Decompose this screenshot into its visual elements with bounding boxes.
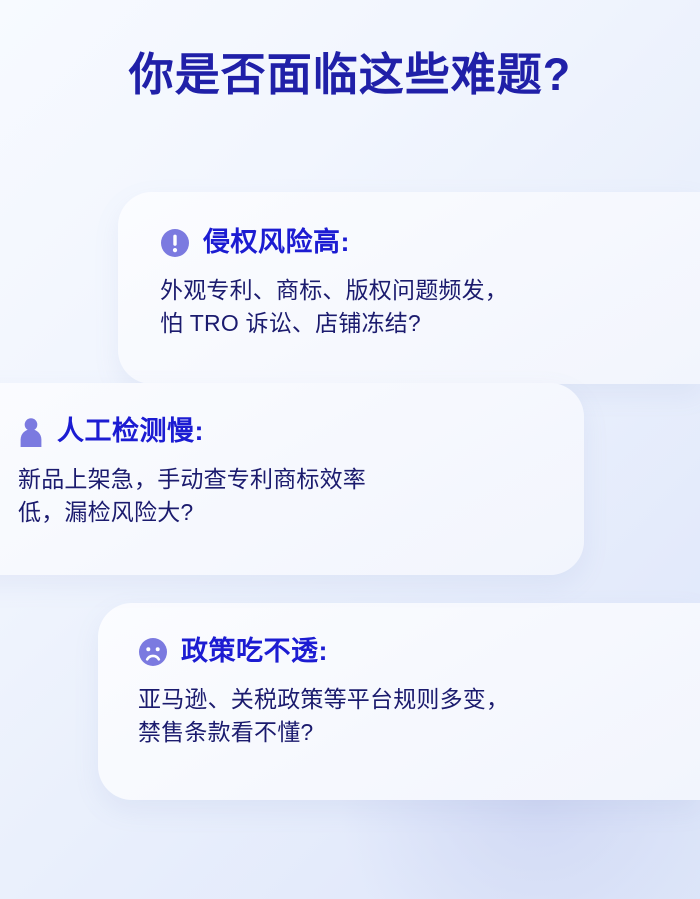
promo-poster: 你是否面临这些难题? 侵权风险高: 外观专利、商标、版权问题频发， 怕 TRO … xyxy=(0,0,700,899)
card-content: 侵权风险高: 外观专利、商标、版权问题频发， 怕 TRO 诉讼、店铺冻结? xyxy=(118,192,700,339)
sad-face-icon xyxy=(138,637,168,667)
card-title: 人工检测慢: xyxy=(57,417,204,447)
card-header: 政策吃不透: xyxy=(138,637,660,667)
card-header: 侵权风险高: xyxy=(160,228,660,258)
problem-card-infringement-risk: 侵权风险高: 外观专利、商标、版权问题频发， 怕 TRO 诉讼、店铺冻结? xyxy=(118,192,700,384)
card-title: 侵权风险高: xyxy=(203,228,350,258)
problem-card-manual-detection-slow: 人工检测慢: 新品上架急，手动查专利商标效率 低，漏检风险大? xyxy=(0,383,584,575)
card-title: 政策吃不透: xyxy=(181,637,328,667)
card-header: 人工检测慢: xyxy=(18,417,544,447)
card-body-text: 新品上架急，手动查专利商标效率 低，漏检风险大? xyxy=(18,463,544,528)
page-title: 你是否面临这些难题? xyxy=(0,48,700,102)
card-content: 人工检测慢: 新品上架急，手动查专利商标效率 低，漏检风险大? xyxy=(0,383,584,528)
problem-card-policy-unclear: 政策吃不透: 亚马逊、关税政策等平台规则多变， 禁售条款看不懂? xyxy=(98,603,700,800)
card-body-text: 外观专利、商标、版权问题频发， 怕 TRO 诉讼、店铺冻结? xyxy=(160,274,660,339)
exclamation-circle-icon xyxy=(160,228,190,258)
card-content: 政策吃不透: 亚马逊、关税政策等平台规则多变， 禁售条款看不懂? xyxy=(98,603,700,748)
person-icon xyxy=(18,417,44,447)
card-body-text: 亚马逊、关税政策等平台规则多变， 禁售条款看不懂? xyxy=(138,683,660,748)
